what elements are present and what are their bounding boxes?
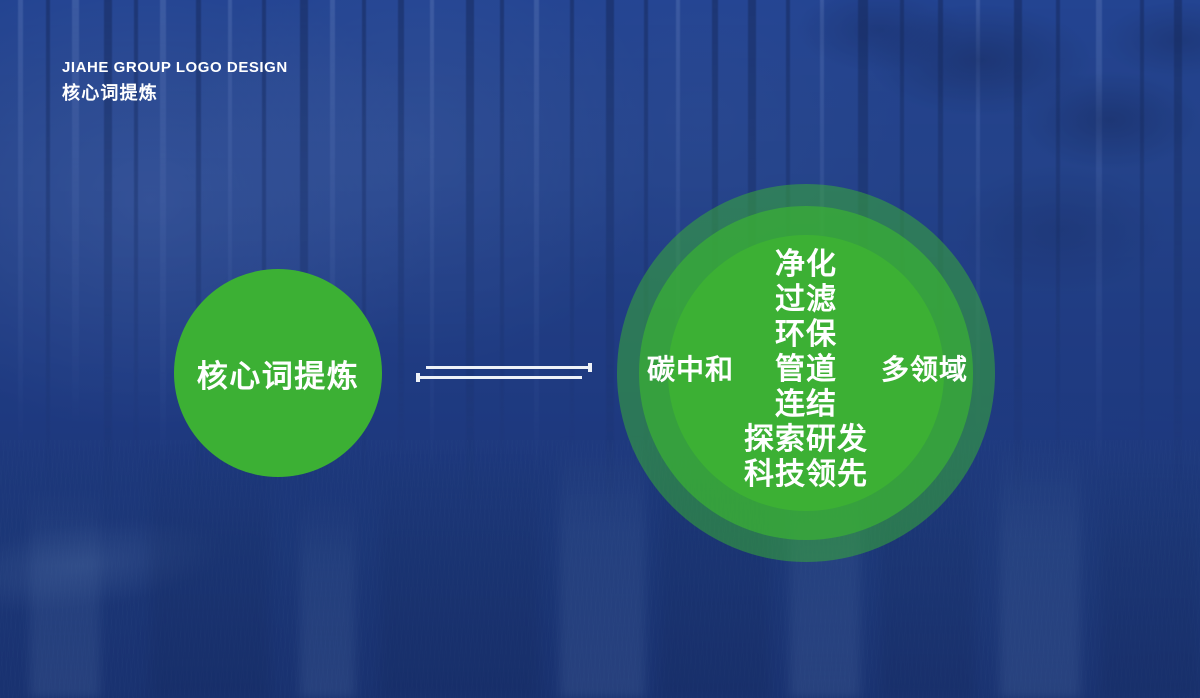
keyword-center-5: 探索研发 (744, 425, 868, 455)
background-dirt-path (0, 478, 297, 643)
connector-line-top (426, 366, 592, 369)
right-keyword-circle-group[interactable]: 净化 过滤 环保 管道 连结 探索研发 科技领先 碳中和 多领域 (617, 184, 995, 562)
keyword-center-6: 科技领先 (744, 460, 868, 490)
left-concept-circle[interactable]: 核心词提炼 (174, 269, 382, 477)
connector-line-bottom (416, 376, 582, 379)
keyword-center-4: 连结 (775, 390, 837, 420)
keyword-right: 多领域 (881, 356, 968, 384)
keyword-center-0: 净化 (775, 250, 837, 280)
keyword-center-3: 管道 (775, 355, 837, 385)
keyword-cloud: 净化 过滤 环保 管道 连结 探索研发 科技领先 碳中和 多领域 (617, 184, 995, 562)
keyword-center-1: 过滤 (775, 285, 837, 315)
keyword-left: 碳中和 (647, 356, 734, 384)
slide-canvas: JIAHE GROUP LOGO DESIGN 核心词提炼 核心词提炼 净化 过… (0, 0, 1200, 698)
left-circle-label: 核心词提炼 (197, 351, 360, 396)
keyword-center-2: 环保 (775, 320, 837, 350)
slide-header: JIAHE GROUP LOGO DESIGN 核心词提炼 (62, 58, 288, 106)
connector-cap-right (588, 363, 592, 372)
page-title-chinese: 核心词提炼 (62, 80, 288, 106)
page-title-english: JIAHE GROUP LOGO DESIGN (62, 58, 288, 78)
double-line-connector (416, 358, 592, 386)
connector-cap-left (416, 373, 420, 382)
